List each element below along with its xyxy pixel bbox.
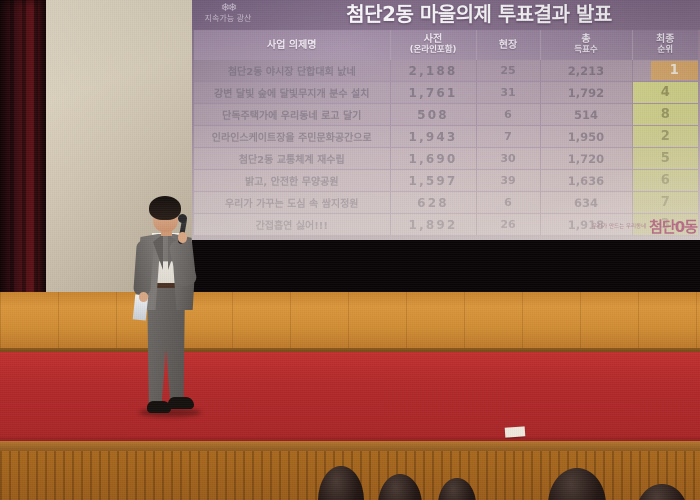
cell-prevote: 628 (390, 192, 476, 214)
wall-slat (171, 451, 173, 500)
cell-total: 1,792 (540, 82, 632, 104)
wall-slat (117, 451, 119, 500)
wall-slat (495, 451, 497, 500)
floor-plank (464, 292, 465, 352)
wall-slat (279, 451, 281, 500)
floor-plank (0, 292, 1, 352)
table-row: 인라인스케이트장을 주민문화공간으로1,94371,9502 (194, 126, 698, 148)
cell-onsite: 6 (476, 104, 540, 126)
cell-rank-winner: 1 (632, 60, 698, 82)
col-header-total: 총 득표수 (540, 30, 632, 60)
cell-rank: 2 (632, 126, 698, 148)
wall-slat (432, 451, 434, 500)
wall-slat (513, 451, 515, 500)
wall-slat (72, 451, 74, 500)
presenter-hand-right (178, 232, 187, 243)
wall-slat (126, 451, 128, 500)
flower-icon: ❄❄ (196, 2, 260, 14)
wall-slat (207, 451, 209, 500)
cell-agenda-name: 강변 달빛 숲에 달빛무지개 분수 설치 (194, 82, 390, 104)
microphone-head-icon (178, 214, 187, 223)
cell-total: 634 (540, 192, 632, 214)
cell-rank: 6 (632, 170, 698, 192)
gwangsan-brand-logo: ❄❄ 지속가능 광산 (196, 2, 260, 29)
wall-slat (18, 451, 20, 500)
cell-total: 1,918 (540, 214, 632, 236)
wall-slat (504, 451, 506, 500)
cell-prevote: 508 (390, 104, 476, 126)
wall-slat (684, 451, 686, 500)
wall-slat (261, 451, 263, 500)
wall-slat (108, 451, 110, 500)
wall-slat (9, 451, 11, 500)
floor-plank (348, 292, 349, 352)
projection-screen: ❄❄ 지속가능 광산 첨단2동 마을의제 투표결과 발표 사업 의제명 사전 (… (192, 0, 700, 240)
cell-onsite: 7 (476, 126, 540, 148)
wall-slat (135, 451, 137, 500)
cell-agenda-name: 간접흡연 싫어!!! (194, 214, 390, 236)
cell-agenda-name: 밝고, 안전한 무양공원 (194, 170, 390, 192)
wall-slat (621, 451, 623, 500)
cell-prevote: 1,690 (390, 148, 476, 170)
cell-onsite: 39 (476, 170, 540, 192)
cell-agenda-name: 단독주택가에 우리동네 로고 달기 (194, 104, 390, 126)
col-header-total-main: 총 (581, 34, 590, 45)
col-header-prevote-main: 사전 (424, 34, 442, 45)
wall-slat (630, 451, 632, 500)
wall-slat (234, 451, 236, 500)
wall-slat (198, 451, 200, 500)
wall-slat (99, 451, 101, 500)
wall-slat (477, 451, 479, 500)
wall-slat (27, 451, 29, 500)
table-row: 첨단2동 야시장 단합대회 낤네2,188252,2131 (194, 60, 698, 82)
col-header-total-sub: 득표수 (541, 45, 632, 56)
brand-name: 지속가능 광산 (196, 14, 260, 24)
floor-plank (580, 292, 581, 352)
vote-results-table: 사업 의제명 사전 (온라인포함) 현장 총 득표수 최종 순위 (194, 30, 698, 236)
wall-slat (315, 451, 317, 500)
col-header-agenda-name: 사업 의제명 (194, 30, 390, 60)
wall-slat (693, 451, 695, 500)
floor-plank (696, 292, 697, 352)
cell-total: 514 (540, 104, 632, 126)
table-header-row: 사업 의제명 사전 (온라인포함) 현장 총 득표수 최종 순위 (194, 30, 698, 60)
cell-rank: 7 (632, 192, 698, 214)
presenter-shoe-right (168, 397, 194, 409)
cell-prevote: 1,761 (390, 82, 476, 104)
wall-slat (225, 451, 227, 500)
presenter (123, 196, 209, 441)
wall-slat (522, 451, 524, 500)
floor-plank (290, 292, 291, 352)
wall-slat (180, 451, 182, 500)
floor-plank (638, 292, 639, 352)
floor-plank (58, 292, 59, 352)
floor-plank (522, 292, 523, 352)
wall-slat (216, 451, 218, 500)
paper-on-floor (505, 426, 526, 437)
wall-slat (639, 451, 641, 500)
cell-prevote: 1,943 (390, 126, 476, 148)
cell-prevote: 2,188 (390, 60, 476, 82)
wall-slat (486, 451, 488, 500)
wall-slat (612, 451, 614, 500)
wall-slat (306, 451, 308, 500)
col-header-prevote: 사전 (온라인포함) (390, 30, 476, 60)
cell-prevote: 1,892 (390, 214, 476, 236)
red-carpet (0, 352, 700, 437)
wall-slat (54, 451, 56, 500)
wall-slat (531, 451, 533, 500)
wood-rail (0, 441, 700, 451)
presenter-hair (149, 196, 181, 220)
col-header-rank: 최종 순위 (632, 30, 698, 60)
cell-total: 1,636 (540, 170, 632, 192)
slide-title: 첨단2동 마을의제 투표결과 발표 (264, 0, 694, 29)
cell-total: 1,950 (540, 126, 632, 148)
wall-slat (144, 451, 146, 500)
floor-plank (232, 292, 233, 352)
cell-total: 2,213 (540, 60, 632, 82)
wall-slat (153, 451, 155, 500)
wall-slat (252, 451, 254, 500)
table-row: 밝고, 안전한 무양공원1,597391,6366 (194, 170, 698, 192)
cell-agenda-name: 첨단2동 야시장 단합대회 낤네 (194, 60, 390, 82)
wall-slat (81, 451, 83, 500)
cell-onsite: 6 (476, 192, 540, 214)
cell-prevote: 1,597 (390, 170, 476, 192)
floor-plank (406, 292, 407, 352)
col-header-rank-main: 최종 (656, 34, 674, 45)
col-header-rank-sub: 순위 (633, 45, 699, 56)
cell-onsite: 26 (476, 214, 540, 236)
table-row: 간접흡연 싫어!!!1,892261,9183 (194, 214, 698, 236)
wall-slat (288, 451, 290, 500)
cell-onsite: 25 (476, 60, 540, 82)
table-row: 강변 달빛 숲에 달빛무지개 분수 설치1,761311,7924 (194, 82, 698, 104)
rank-badge: 1 (651, 61, 699, 80)
auditorium-photo: ❄❄ 지속가능 광산 첨단2동 마을의제 투표결과 발표 사업 의제명 사전 (… (0, 0, 700, 500)
stage-curtain (0, 0, 46, 300)
wall-slat (540, 451, 542, 500)
presenter-hand-left (139, 292, 148, 302)
wall-slat (0, 451, 2, 500)
cell-agenda-name: 첨단2동 교통체계 재수립 (194, 148, 390, 170)
wall-slat (90, 451, 92, 500)
wall-slat (270, 451, 272, 500)
cell-rank: 3 (632, 214, 698, 236)
wall-slat (45, 451, 47, 500)
cell-agenda-name: 우리가 가꾸는 도심 속 쌈지정원 (194, 192, 390, 214)
wall-slat (63, 451, 65, 500)
floor-plank (116, 292, 117, 352)
wall-slat (162, 451, 164, 500)
wall-slat (36, 451, 38, 500)
wall-slat (369, 451, 371, 500)
table-row: 우리가 가꾸는 도심 속 쌈지정원62866347 (194, 192, 698, 214)
table-row: 첨단2동 교통체계 재수립1,690301,7205 (194, 148, 698, 170)
col-header-onsite: 현장 (476, 30, 540, 60)
table-row: 단독주택가에 우리동네 로고 달기50865148 (194, 104, 698, 126)
table-body: 첨단2동 야시장 단합대회 낤네2,188252,2131강변 달빛 숲에 달빛… (194, 60, 698, 236)
cell-total: 1,720 (540, 148, 632, 170)
cell-rank: 8 (632, 104, 698, 126)
wall-slat (189, 451, 191, 500)
stage-wooden-floor (0, 292, 700, 352)
cell-rank: 5 (632, 148, 698, 170)
wall-slat (423, 451, 425, 500)
wall-slat (243, 451, 245, 500)
cell-rank: 4 (632, 82, 698, 104)
cell-agenda-name: 인라인스케이트장을 주민문화공간으로 (194, 126, 390, 148)
wall-slat (297, 451, 299, 500)
col-header-prevote-sub: (온라인포함) (391, 45, 476, 56)
cell-onsite: 30 (476, 148, 540, 170)
cell-onsite: 31 (476, 82, 540, 104)
